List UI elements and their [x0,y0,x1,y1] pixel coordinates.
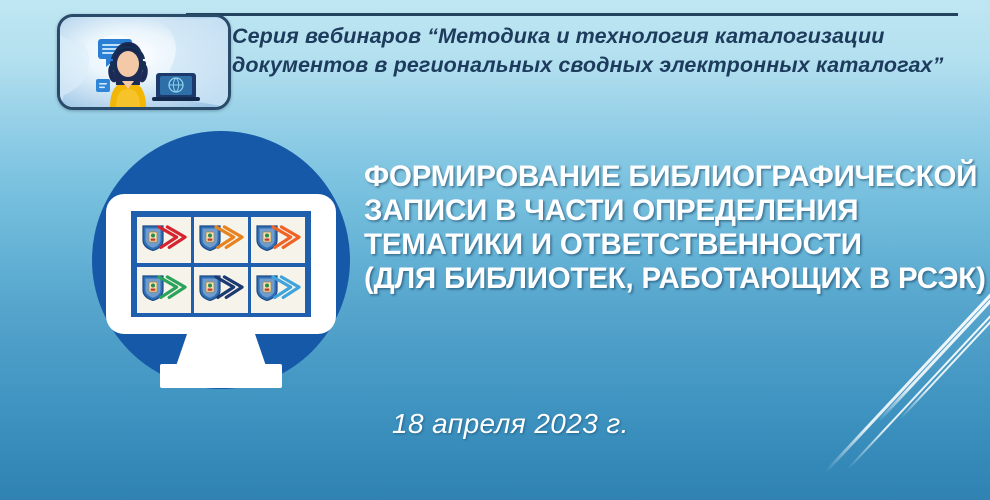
webinar-series-title: Серия вебинаров “Методика и технология к… [232,22,962,80]
monitor-regional-catalogs-icon [92,131,350,389]
webinar-thumbnail [57,14,231,110]
header-banner: Серия вебинаров “Методика и технология к… [0,0,990,118]
slide-main-title: ФОРМИРОВАНИЕ БИБЛИОГРАФИЧЕСКОЙ ЗАПИСИ В … [364,160,988,296]
rsec-monitor-emblem [92,131,350,389]
webinar-presenter-illustration [60,17,228,107]
slide-date: 18 апреля 2023 г. [392,408,629,440]
presentation-slide: Серия вебинаров “Методика и технология к… [0,0,990,500]
header-divider-rule [186,13,958,16]
